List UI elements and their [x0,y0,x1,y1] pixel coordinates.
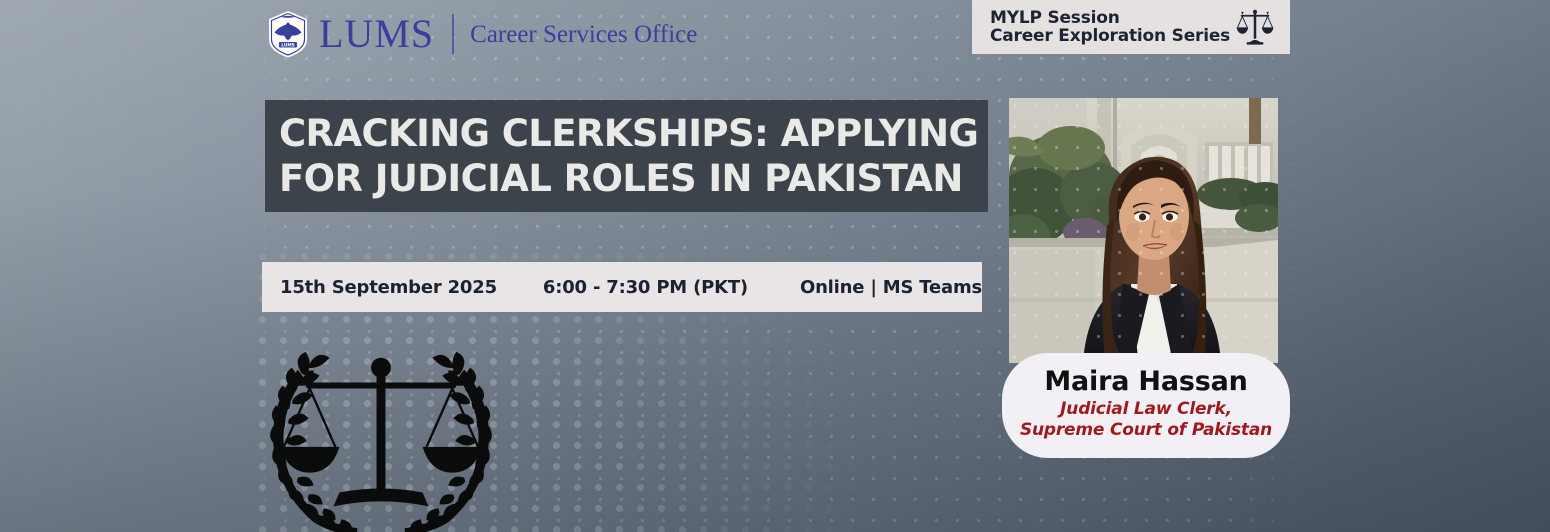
event-title-line-2: FOR JUDICIAL ROLES IN PAKISTAN [279,156,988,201]
scales-of-justice-icon [1234,5,1276,49]
lums-logo-lockup: LUMS LUMS Career Services Office [263,8,697,60]
scales-of-justice-laurel-wreath-icon [262,334,500,532]
lums-wordmark: LUMS [319,14,434,54]
speaker-role-line1: Judicial Law Clerk, [1060,399,1232,419]
speaker-portrait-illustration [1009,98,1278,363]
event-time: 6:00 - 7:30 PM (PKT) [543,277,748,298]
series-badge-line1: MYLP Session [990,9,1230,27]
event-venue: Online | MS Teams [800,277,982,298]
event-poster: LUMS LUMS Career Services Office MYLP Se… [0,0,1550,532]
event-title-line-1: CRACKING CLERKSHIPS: APPLYING [279,111,988,156]
event-details-bar: 15th September 2025 6:00 - 7:30 PM (PKT)… [262,262,982,312]
speaker-photo [1009,98,1278,363]
career-services-office-label: Career Services Office [470,22,697,47]
shield-wordmark: LUMS [281,42,294,48]
series-badge: MYLP Session Career Exploration Series [972,0,1290,54]
event-date: 15th September 2025 [280,277,497,298]
speaker-name: Maira Hassan [1044,367,1247,397]
lums-shield-icon: LUMS [263,9,313,59]
logo-divider [452,14,454,54]
series-badge-text: MYLP Session Career Exploration Series [990,9,1230,46]
event-title-bar: CRACKING CLERKSHIPS: APPLYING FOR JUDICI… [265,100,988,212]
speaker-card: Maira Hassan Judicial Law Clerk, Supreme… [1002,353,1290,458]
series-badge-line2: Career Exploration Series [990,27,1230,45]
speaker-role-line2: Supreme Court of Pakistan [1020,420,1272,440]
